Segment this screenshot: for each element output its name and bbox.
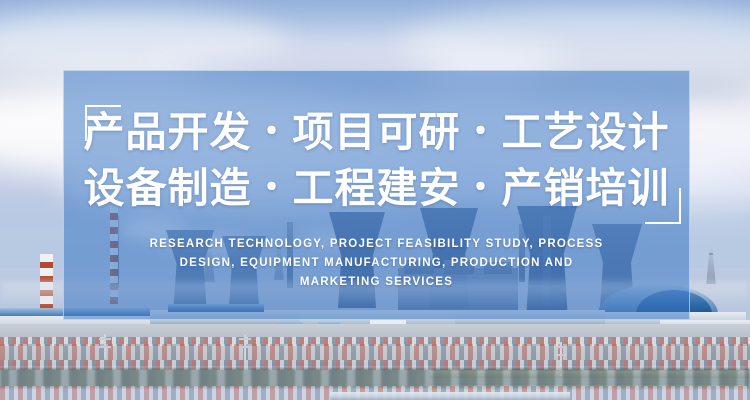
- headline-2-part-3: 产销培训: [502, 164, 670, 212]
- promo-banner: 产品开发・项目可研・工艺设计 设备制造・工程建安・产销培训 RESEARCH T…: [0, 0, 750, 400]
- separator-dot: ・: [252, 162, 293, 215]
- headline-line-1: 产品开发・项目可研・工艺设计: [84, 106, 670, 162]
- subtitle-line-1: RESEARCH TECHNOLOGY, PROJECT FEASIBILITY…: [142, 235, 612, 254]
- headline-line-2: 设备制造・工程建安・产销培训: [84, 162, 670, 218]
- headline-2-part-1: 设备制造: [84, 164, 252, 212]
- banner-content: 产品开发・项目可研・工艺设计 设备制造・工程建安・产销培训 RESEARCH T…: [63, 70, 690, 320]
- power-pylon: [700, 246, 722, 284]
- headline-2-part-2: 工程建安: [293, 164, 461, 212]
- subtitle-line-3: MARKETING SERVICES: [142, 273, 612, 292]
- headline-1-part-3: 工艺设计: [502, 108, 670, 156]
- light-mast: [104, 334, 106, 358]
- separator-dot: ・: [461, 162, 502, 215]
- railyard: [0, 344, 750, 360]
- tree-line: [0, 368, 750, 388]
- light-mast: [244, 334, 246, 360]
- headline-1-part-1: 产品开发: [84, 108, 252, 156]
- subtitle-line-2: DESIGN, EQUIPMENT MANUFACTURING, PRODUCT…: [142, 254, 612, 273]
- separator-dot: ・: [461, 106, 502, 159]
- foreground-train: [330, 392, 570, 400]
- subtitle-block: RESEARCH TECHNOLOGY, PROJECT FEASIBILITY…: [142, 235, 612, 292]
- separator-dot: ・: [252, 106, 293, 159]
- headline-1-part-2: 项目可研: [293, 108, 461, 156]
